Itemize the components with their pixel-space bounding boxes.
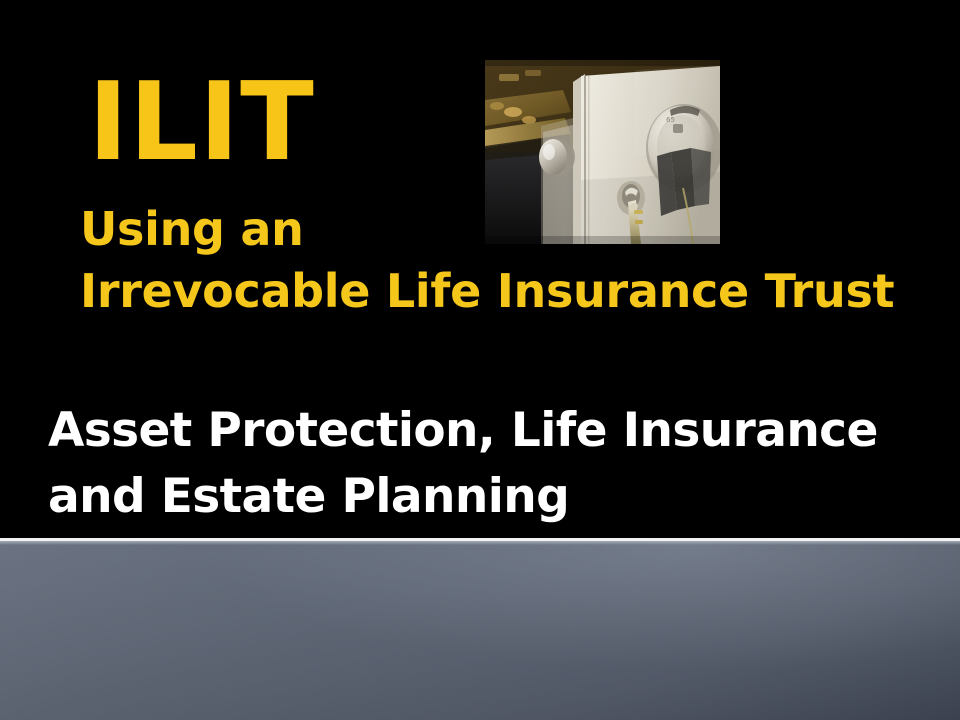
presentation-slide: ILIT Using an Irrevocable Life Insurance…: [0, 0, 960, 720]
safe-with-key-photo: 65: [485, 60, 720, 244]
footer-panel: www.ProAssetProtection.com: [0, 541, 960, 720]
headline-line-2: and Estate Planning: [48, 464, 928, 530]
page-title: ILIT: [88, 69, 315, 177]
subtitle-line-2: Irrevocable Life Insurance Trust: [80, 260, 870, 322]
slide-subtitle: Using an Irrevocable Life Insurance Trus…: [80, 198, 870, 322]
safe-illustration: 65: [485, 60, 720, 244]
subtitle-line-1: Using an: [80, 198, 870, 260]
slide-headline: Asset Protection, Life Insurance and Est…: [48, 398, 928, 530]
svg-text:65: 65: [666, 116, 675, 124]
slide-upper-black-area: ILIT Using an Irrevocable Life Insurance…: [0, 0, 960, 538]
headline-line-1: Asset Protection, Life Insurance: [48, 398, 928, 464]
